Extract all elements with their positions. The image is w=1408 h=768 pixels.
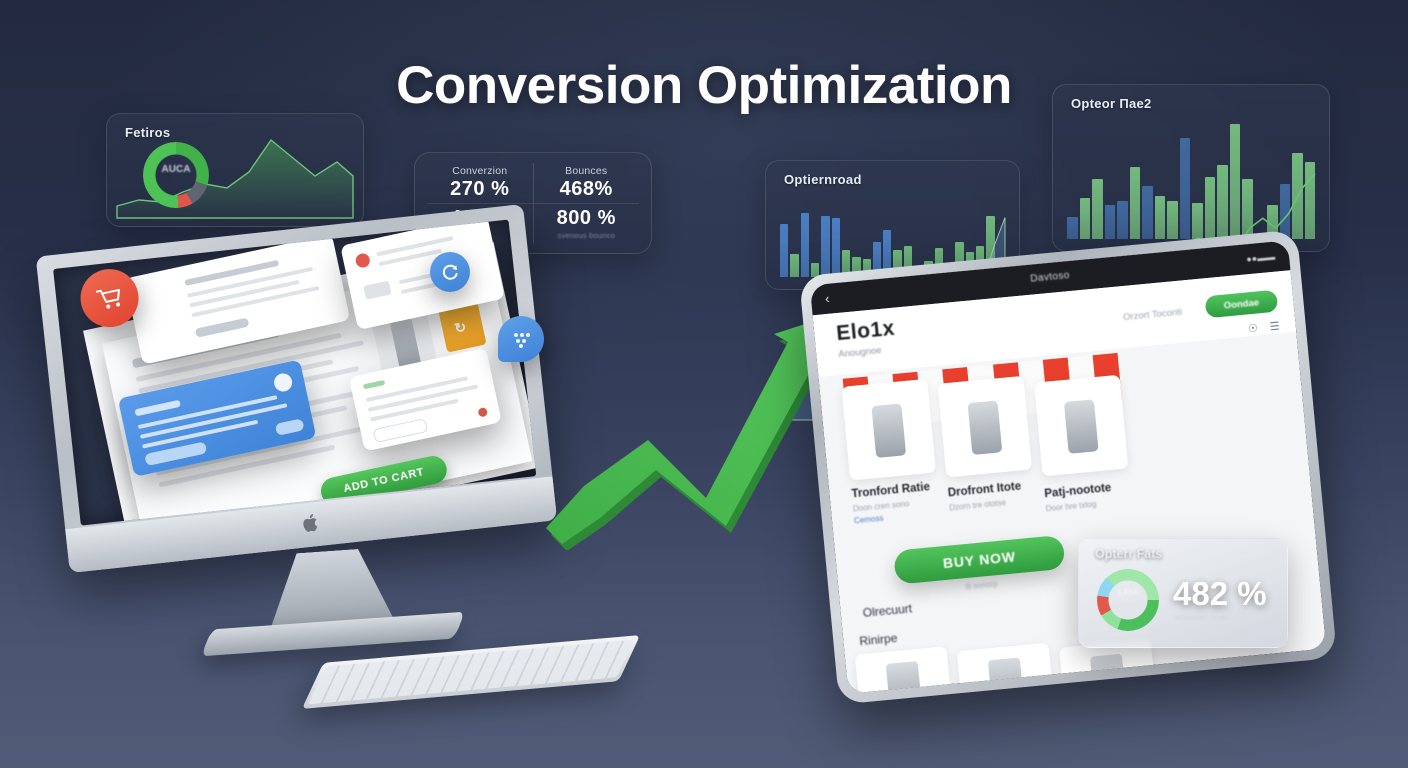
right-chart-plot — [1067, 119, 1315, 239]
magic-keyboard[interactable] — [302, 635, 640, 709]
shop-name: Elo1x — [835, 317, 896, 346]
product-card-3[interactable] — [1034, 375, 1128, 477]
donut-chart-left — [143, 142, 209, 208]
imac-body: ↻ — [36, 204, 557, 573]
section-label-1: Olrecuurt — [862, 601, 912, 620]
conversion-gauge-card: Opterr Fats 140A Othdepe 482 % wrooman n… — [1078, 538, 1288, 648]
kpi-cell-fourth: 800 % svenous bounco — [534, 204, 640, 244]
gauge-title: Opterr Fats — [1095, 547, 1162, 561]
statusbar-icons: ●●▬▬ — [1246, 252, 1276, 265]
poster-canvas: Conversion Optimization Fetiros AUCA Con… — [0, 0, 1408, 768]
kpi-label-conversion: Converzion — [452, 165, 507, 177]
chart-card-right: Opteor Пae2 — [1052, 84, 1330, 252]
product-desc-1: Doon cren sono — [853, 499, 910, 513]
product-desc-3: Door hre txtog — [1045, 500, 1096, 514]
gauge-sub: wrooman node — [1175, 613, 1228, 622]
shop-cta-button[interactable]: Oondae — [1205, 290, 1279, 319]
product-card-4[interactable] — [855, 646, 952, 693]
analytics-card-left: Fetiros AUCA — [106, 113, 364, 227]
kpi-sub-fourth: svenous bounco — [558, 231, 615, 240]
apple-logo — [301, 512, 321, 535]
dots-icon — [509, 329, 533, 349]
shop-meta: Orzort Toconti — [1123, 307, 1183, 324]
product-link-1[interactable]: Cemoss — [854, 514, 884, 526]
list-icon[interactable]: ☰ — [1269, 319, 1280, 333]
product-card-1[interactable] — [841, 379, 935, 481]
shop-cta-label: Oondae — [1223, 297, 1259, 311]
product-name-2: Drofront Itote — [947, 481, 1021, 500]
donut-left-label: AUCA — [143, 164, 209, 175]
imac-desktop: ↻ — [70, 255, 570, 585]
kpi-label-bounces: Bounces — [565, 165, 607, 177]
gauge-ring-label-2: Othdepe — [1097, 601, 1159, 610]
section-label-2: Rinirpe — [859, 631, 898, 649]
buy-now-label: BUY NOW — [942, 548, 1016, 571]
shopping-cart-icon — [94, 284, 124, 313]
bell-icon[interactable]: ☉ — [1247, 322, 1258, 336]
kpi-cell-bounces: Bounces 468% — [534, 163, 640, 203]
kpi-value-conversion: 270 % — [450, 178, 509, 201]
gauge-value: 482 % — [1173, 575, 1267, 613]
gauge-donut — [1097, 569, 1159, 631]
kpi-cell-conversion: Converzion 270 % — [427, 163, 533, 203]
refresh-icon — [440, 262, 460, 282]
refresh-bubble[interactable] — [430, 252, 470, 292]
product-card-5[interactable] — [957, 643, 1054, 694]
card-right-title: Opteor Пae2 — [1071, 96, 1152, 111]
product-name-3: Patj-nootote — [1044, 482, 1112, 500]
kpi-value-bounces: 468% — [560, 178, 613, 201]
product-desc-2: Dzorn tre ototse — [949, 498, 1007, 512]
shop-subtitle: Anougnoe — [838, 345, 882, 360]
product-card-2[interactable] — [938, 376, 1032, 478]
product-name-1: Tronford Ratie — [851, 481, 930, 500]
card-mid-title: Optiernroad — [784, 172, 862, 187]
kpi-value-fourth: 800 % — [557, 207, 616, 230]
gauge-ring-label-1: 140A — [1097, 587, 1159, 597]
